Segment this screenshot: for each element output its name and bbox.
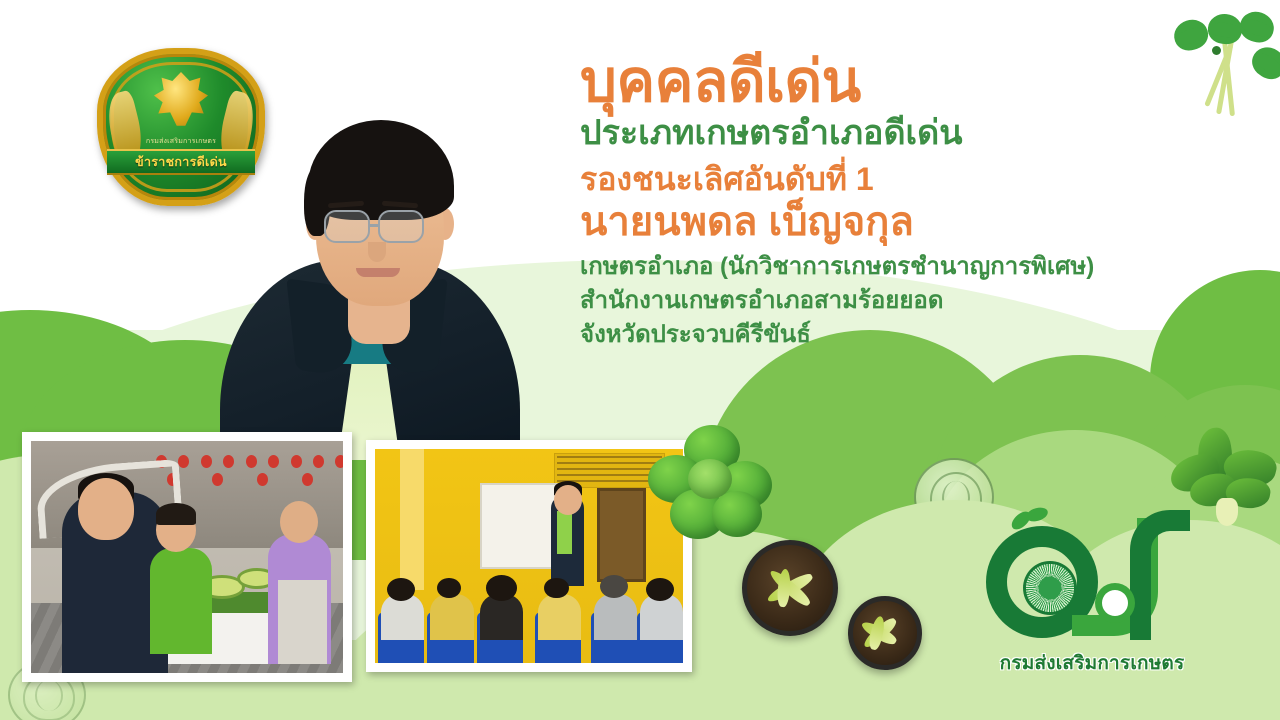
photo-training-meeting-image — [375, 449, 683, 663]
portrait-glasses-bridge — [370, 224, 380, 227]
photo-training-meeting — [366, 440, 692, 672]
award-rank: รองชนะเลิศอันดับที่ 1 — [580, 159, 1270, 201]
portrait-glasses-right — [378, 210, 424, 243]
recipient-position: เกษตรอำเภอ (นักวิชาการเกษตรชำนาญการพิเศษ… — [580, 250, 1270, 284]
agency-logo: กรมส่งเสริมการเกษตร — [980, 498, 1204, 688]
award-title: บุคคลดีเด่น — [580, 52, 1270, 111]
doae-monogram-logo — [980, 498, 1204, 648]
lettuce-icon — [648, 425, 780, 545]
recipient-portrait — [196, 82, 541, 460]
recipient-name: นายนพดล เบ็ญจกุล — [580, 198, 1270, 246]
photo-food-event-image — [31, 441, 343, 673]
photo-food-event — [22, 432, 352, 682]
recipient-province: จังหวัดประจวบคีรีขันธ์ — [580, 318, 1270, 352]
slide-canvas: กรมส่งเสริมการเกษตร ข้าราชการดีเด่น บุคค… — [0, 0, 1280, 720]
portrait-mouth — [356, 268, 400, 277]
agency-logo-caption: กรมส่งเสริมการเกษตร — [980, 648, 1204, 678]
potted-seedling-small-icon — [848, 596, 922, 670]
portrait-glasses-left — [324, 210, 370, 243]
portrait-nose — [368, 242, 386, 262]
award-category: ประเภทเกษตรอำเภอดีเด่น — [580, 113, 1270, 154]
potted-seedling-icon — [742, 540, 838, 636]
award-text-block: บุคคลดีเด่น ประเภทเกษตรอำเภอดีเด่น รองชน… — [580, 52, 1270, 352]
recipient-office: สำนักงานเกษตรอำเภอสามร้อยยอด — [580, 284, 1270, 318]
